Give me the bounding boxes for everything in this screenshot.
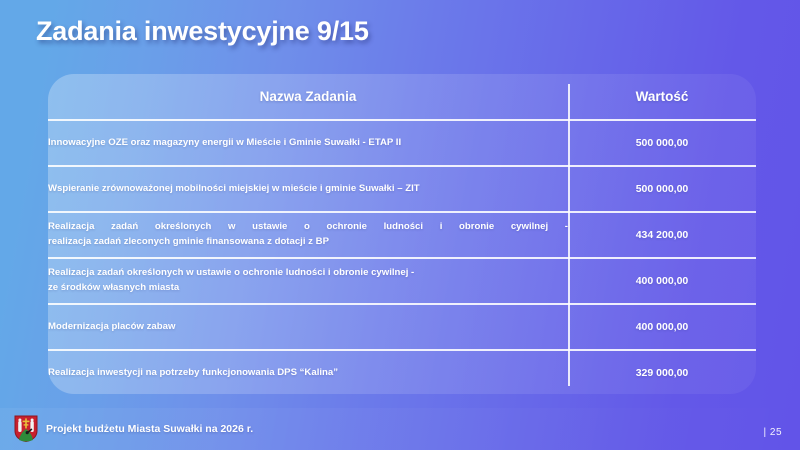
page-number: | 25	[764, 427, 783, 438]
footer-text: Projekt budżetu Miasta Suwałki na 2026 r…	[46, 423, 253, 435]
task-value-cell: 434 200,00	[568, 212, 756, 258]
task-name-cell: Realizacja zadań określonych w ustawie o…	[48, 258, 568, 304]
task-name-cell: Realizacja inwestycji na potrzeby funkcj…	[48, 350, 568, 394]
task-name-line: Realizacja zadań określonych w ustawie o…	[48, 220, 568, 235]
table-row[interactable]: Realizacja zadań określonych w ustawie o…	[48, 212, 756, 258]
table-row[interactable]: Modernizacja placów zabaw 400 000,00	[48, 304, 756, 350]
table-row[interactable]: Realizacja inwestycji na potrzeby funkcj…	[48, 350, 756, 394]
footer-band: Projekt budżetu Miasta Suwałki na 2026 r…	[0, 408, 800, 450]
budget-table: Nazwa Zadania Wartość Innowacyjne OZE or…	[48, 74, 756, 394]
task-value-cell: 329 000,00	[568, 350, 756, 394]
task-name-cell: Wspieranie zrównoważonej mobilności miej…	[48, 166, 568, 212]
task-name-line: Realizacja zadań określonych w ustawie o…	[48, 266, 568, 281]
footer-left-group: Projekt budżetu Miasta Suwałki na 2026 r…	[14, 415, 253, 442]
task-name-line: Wspieranie zrównoważonej mobilności miej…	[48, 182, 568, 197]
table-row[interactable]: Realizacja zadań określonych w ustawie o…	[48, 258, 756, 304]
task-value-cell: 500 000,00	[568, 120, 756, 166]
page-title: Zadania inwestycyjne 9/15	[36, 16, 369, 47]
task-name-cell: Innowacyjne OZE oraz magazyny energii w …	[48, 120, 568, 166]
task-name-cell: Realizacja zadań określonych w ustawie o…	[48, 212, 568, 258]
task-value-cell: 400 000,00	[568, 304, 756, 350]
task-name-cell: Modernizacja placów zabaw	[48, 304, 568, 350]
table-body: Innowacyjne OZE oraz magazyny energii w …	[48, 120, 756, 394]
task-value-cell: 400 000,00	[568, 258, 756, 304]
budget-table-card: Nazwa Zadania Wartość Innowacyjne OZE or…	[48, 74, 756, 394]
table-header-row: Nazwa Zadania Wartość	[48, 74, 756, 120]
column-header-name: Nazwa Zadania	[48, 74, 568, 120]
task-name-line: Innowacyjne OZE oraz magazyny energii w …	[48, 136, 568, 151]
task-name-line: realizacja zadań zleconych gminie finans…	[48, 235, 568, 250]
task-name-line: Modernizacja placów zabaw	[48, 320, 568, 335]
task-value-cell: 500 000,00	[568, 166, 756, 212]
suwalki-coat-of-arms-icon	[14, 415, 38, 442]
table-row[interactable]: Wspieranie zrównoważonej mobilności miej…	[48, 166, 756, 212]
column-header-value: Wartość	[568, 74, 756, 120]
task-name-line: ze środków własnych miasta	[48, 281, 568, 296]
table-row[interactable]: Innowacyjne OZE oraz magazyny energii w …	[48, 120, 756, 166]
task-name-line: Realizacja inwestycji na potrzeby funkcj…	[48, 366, 568, 381]
